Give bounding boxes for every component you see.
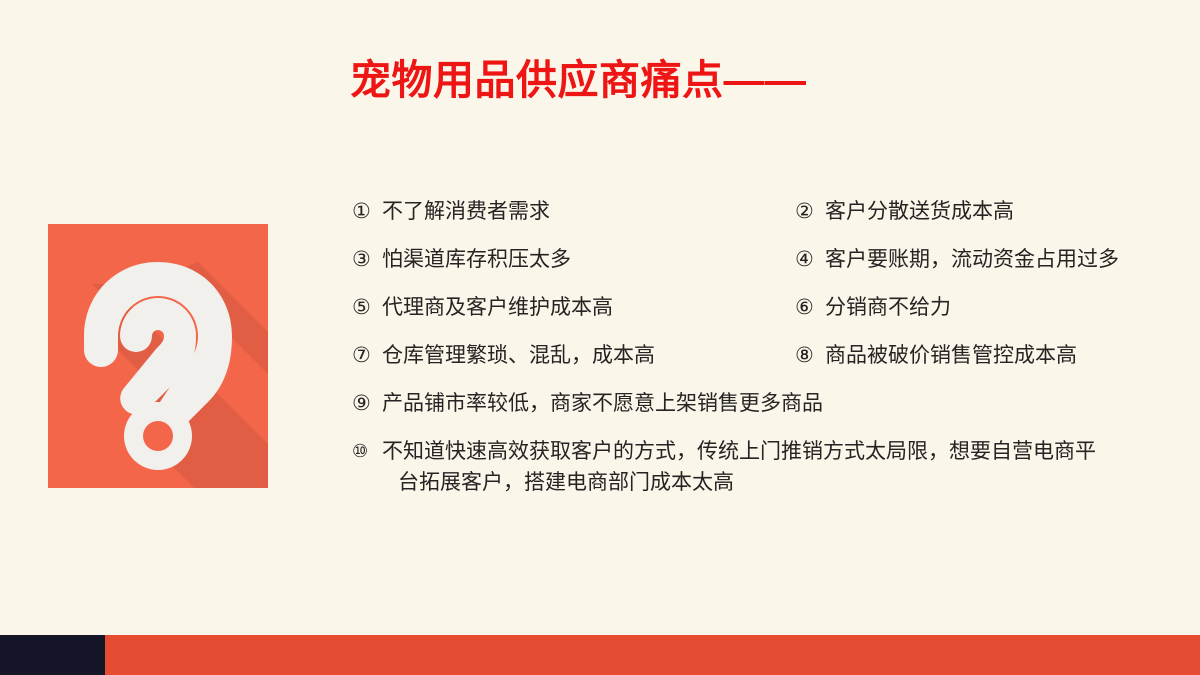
list-item-text: 怕渠道库存积压太多 [382, 244, 571, 275]
list-item-marker: ⑤ [352, 292, 382, 323]
points-row: ③ 怕渠道库存积压太多 ④ 客户要账期，流动资金占用过多 [352, 244, 1172, 292]
list-item-marker: ⑥ [795, 292, 825, 323]
list-item: ① 不了解消费者需求 [352, 196, 550, 227]
footer-accent-block [0, 635, 105, 675]
list-item-text: 不知道快速高效获取客户的方式，传统上门推销方式太局限，想要自营电商平 台拓展客户… [382, 436, 1172, 498]
list-item: ⑨ 产品铺市率较低，商家不愿意上架销售更多商品 [352, 388, 823, 419]
list-item: ⑧ 商品被破价销售管控成本高 [795, 340, 1077, 371]
list-item-text: 不了解消费者需求 [382, 196, 550, 227]
list-item: ⑤ 代理商及客户维护成本高 [352, 292, 613, 323]
list-item-marker: ⑦ [352, 340, 382, 371]
pain-points-list: ① 不了解消费者需求 ② 客户分散送货成本高 ③ 怕渠道库存积压太多 ④ 客户要… [352, 196, 1172, 512]
list-item-marker: ⑧ [795, 340, 825, 371]
points-row: ① 不了解消费者需求 ② 客户分散送货成本高 [352, 196, 1172, 244]
list-item-text-line2: 台拓展客户，搭建电商部门成本太高 [382, 467, 1172, 498]
list-item: ⑦ 仓库管理繁琐、混乱，成本高 [352, 340, 655, 371]
points-row: ⑦ 仓库管理繁琐、混乱，成本高 ⑧ 商品被破价销售管控成本高 [352, 340, 1172, 388]
list-item-text: 仓库管理繁琐、混乱，成本高 [382, 340, 655, 371]
list-item-text: 代理商及客户维护成本高 [382, 292, 613, 323]
list-item-marker: ② [795, 196, 825, 227]
list-item-marker: ① [352, 196, 382, 227]
points-row: ⑨ 产品铺市率较低，商家不愿意上架销售更多商品 [352, 388, 1172, 436]
list-item-text: 产品铺市率较低，商家不愿意上架销售更多商品 [382, 388, 823, 419]
list-item-text: 客户分散送货成本高 [825, 196, 1014, 227]
list-item-marker: ③ [352, 244, 382, 275]
list-item: ⑩ 不知道快速高效获取客户的方式，传统上门推销方式太局限，想要自营电商平 台拓展… [352, 436, 1172, 498]
list-item-text: 分销商不给力 [825, 292, 951, 323]
list-item-text: 商品被破价销售管控成本高 [825, 340, 1077, 371]
list-item-marker: ④ [795, 244, 825, 275]
points-row: ⑤ 代理商及客户维护成本高 ⑥ 分销商不给力 [352, 292, 1172, 340]
list-item: ⑥ 分销商不给力 [795, 292, 951, 323]
list-item-text: 客户要账期，流动资金占用过多 [825, 244, 1119, 275]
points-row: ⑩ 不知道快速高效获取客户的方式，传统上门推销方式太局限，想要自营电商平 台拓展… [352, 436, 1172, 512]
question-mark-icon [48, 224, 268, 488]
list-item: ② 客户分散送货成本高 [795, 196, 1014, 227]
list-item-marker: ⑨ [352, 388, 382, 419]
slide-root: 宠物用品供应商痛点—— [0, 0, 1200, 675]
list-item: ③ 怕渠道库存积压太多 [352, 244, 571, 275]
list-item-text-line1: 不知道快速高效获取客户的方式，传统上门推销方式太局限，想要自营电商平 [382, 440, 1096, 463]
list-item: ④ 客户要账期，流动资金占用过多 [795, 244, 1119, 275]
footer-bar [0, 635, 1200, 675]
list-item-marker: ⑩ [352, 436, 382, 467]
page-title: 宠物用品供应商痛点—— [350, 56, 807, 104]
